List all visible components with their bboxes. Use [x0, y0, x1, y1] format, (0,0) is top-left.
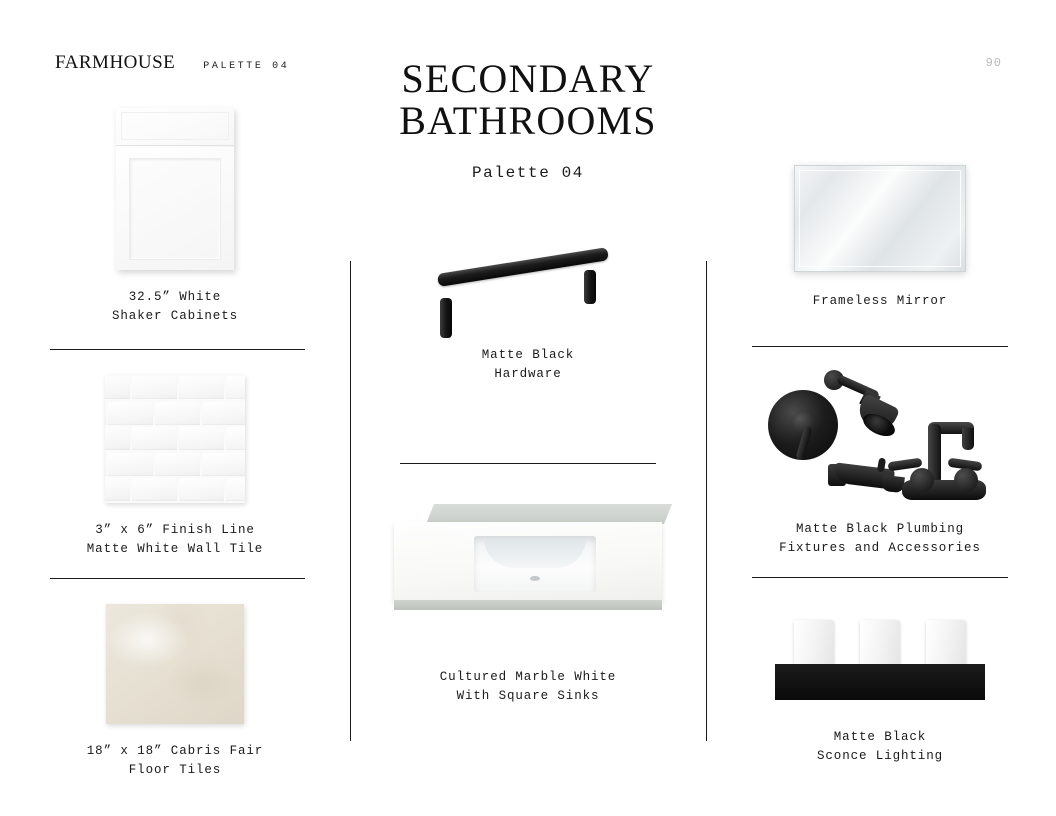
- caption-line-1: 32.5” White: [55, 288, 295, 307]
- bar-pull-post-right: [584, 270, 596, 304]
- faucet-spout-downturn: [962, 428, 974, 450]
- tile-row: [105, 401, 245, 427]
- column-divider-right: [706, 261, 707, 741]
- caption-wall-tile: 3” x 6” Finish Line Matte White Wall Til…: [55, 521, 295, 559]
- caption-line-2: Shaker Cabinets: [55, 307, 295, 326]
- caption-line-2: Fixtures and Accessories: [762, 539, 998, 558]
- item-shaker-cabinets: 32.5” White Shaker Cabinets: [55, 108, 295, 326]
- caption-line-1: Matte Black Plumbing: [762, 520, 998, 539]
- caption-hardware: Matte Black Hardware: [408, 346, 648, 384]
- vanity-front-edge: [394, 600, 662, 610]
- cabinet-door-image: [116, 108, 234, 270]
- tile-row: [105, 375, 245, 401]
- vanity-bowl: [484, 538, 586, 568]
- vanity-top-image: [392, 500, 664, 618]
- cabinet-door-panel: [116, 147, 234, 270]
- caption-floor-tile: 18” x 18” Cabris Fair Floor Tiles: [55, 742, 295, 780]
- right-divider-1: [752, 346, 1008, 347]
- left-divider-2: [50, 578, 305, 579]
- caption-line-2: Floor Tiles: [55, 761, 295, 780]
- bar-pull-post-left: [440, 298, 452, 338]
- caption-line-2: Sconce Lighting: [775, 747, 985, 766]
- caption-line-1: 18” x 18” Cabris Fair: [55, 742, 295, 761]
- tile-row: [105, 426, 245, 452]
- plumbing-fixtures-image: [762, 362, 998, 502]
- item-mirror: Frameless Mirror: [760, 165, 1000, 311]
- page-title-line-1: SECONDARY: [0, 58, 1056, 100]
- caption-vanity: Cultured Marble White With Square Sinks: [392, 668, 664, 706]
- item-wall-tile: 3” x 6” Finish Line Matte White Wall Til…: [55, 375, 295, 559]
- caption-line-1: Matte Black: [775, 728, 985, 747]
- caption-line-2: With Square Sinks: [392, 687, 664, 706]
- design-board-page: FARMHOUSE PALETTE 04 90 SECONDARY BATHRO…: [0, 0, 1056, 816]
- caption-plumbing-fixtures: Matte Black Plumbing Fixtures and Access…: [762, 520, 998, 558]
- caption-line-2: Hardware: [408, 365, 648, 384]
- vanity-sink-basin: [474, 536, 596, 592]
- item-floor-tile: 18” x 18” Cabris Fair Floor Tiles: [55, 604, 295, 780]
- floor-tile-image: [106, 604, 244, 724]
- item-vanity: Cultured Marble White With Square Sinks: [392, 500, 664, 706]
- vanity-backsplash: [426, 504, 672, 524]
- vanity-drain: [530, 576, 540, 581]
- caption-mirror: Frameless Mirror: [760, 292, 1000, 311]
- cabinet-drawer: [116, 108, 234, 146]
- center-divider-1: [400, 463, 656, 464]
- caption-line-1: Cultured Marble White: [392, 668, 664, 687]
- subway-tile-image: [105, 375, 245, 503]
- item-hardware: Matte Black Hardware: [408, 252, 648, 384]
- column-divider-left: [350, 261, 351, 741]
- left-divider-1: [50, 349, 305, 350]
- caption-line-1: 3” x 6” Finish Line: [55, 521, 295, 540]
- right-divider-2: [752, 577, 1008, 578]
- caption-line-1: Frameless Mirror: [760, 292, 1000, 311]
- faucet-valve-right: [954, 468, 978, 492]
- caption-line-1: Matte Black: [408, 346, 648, 365]
- faucet-valve-left: [910, 468, 934, 492]
- caption-sconce-lighting: Matte Black Sconce Lighting: [775, 728, 985, 766]
- bar-pull-image: [428, 252, 628, 344]
- item-sconce-lighting: Matte Black Sconce Lighting: [775, 612, 985, 766]
- vanity-light-bar-image: [775, 612, 985, 704]
- tile-row: [105, 452, 245, 478]
- sconce-mounting-bar: [775, 664, 985, 700]
- item-plumbing-fixtures: Matte Black Plumbing Fixtures and Access…: [762, 362, 998, 558]
- frameless-mirror-image: [794, 165, 966, 272]
- caption-shaker-cabinets: 32.5” White Shaker Cabinets: [55, 288, 295, 326]
- tile-row: [105, 477, 245, 503]
- caption-line-2: Matte White Wall Tile: [55, 540, 295, 559]
